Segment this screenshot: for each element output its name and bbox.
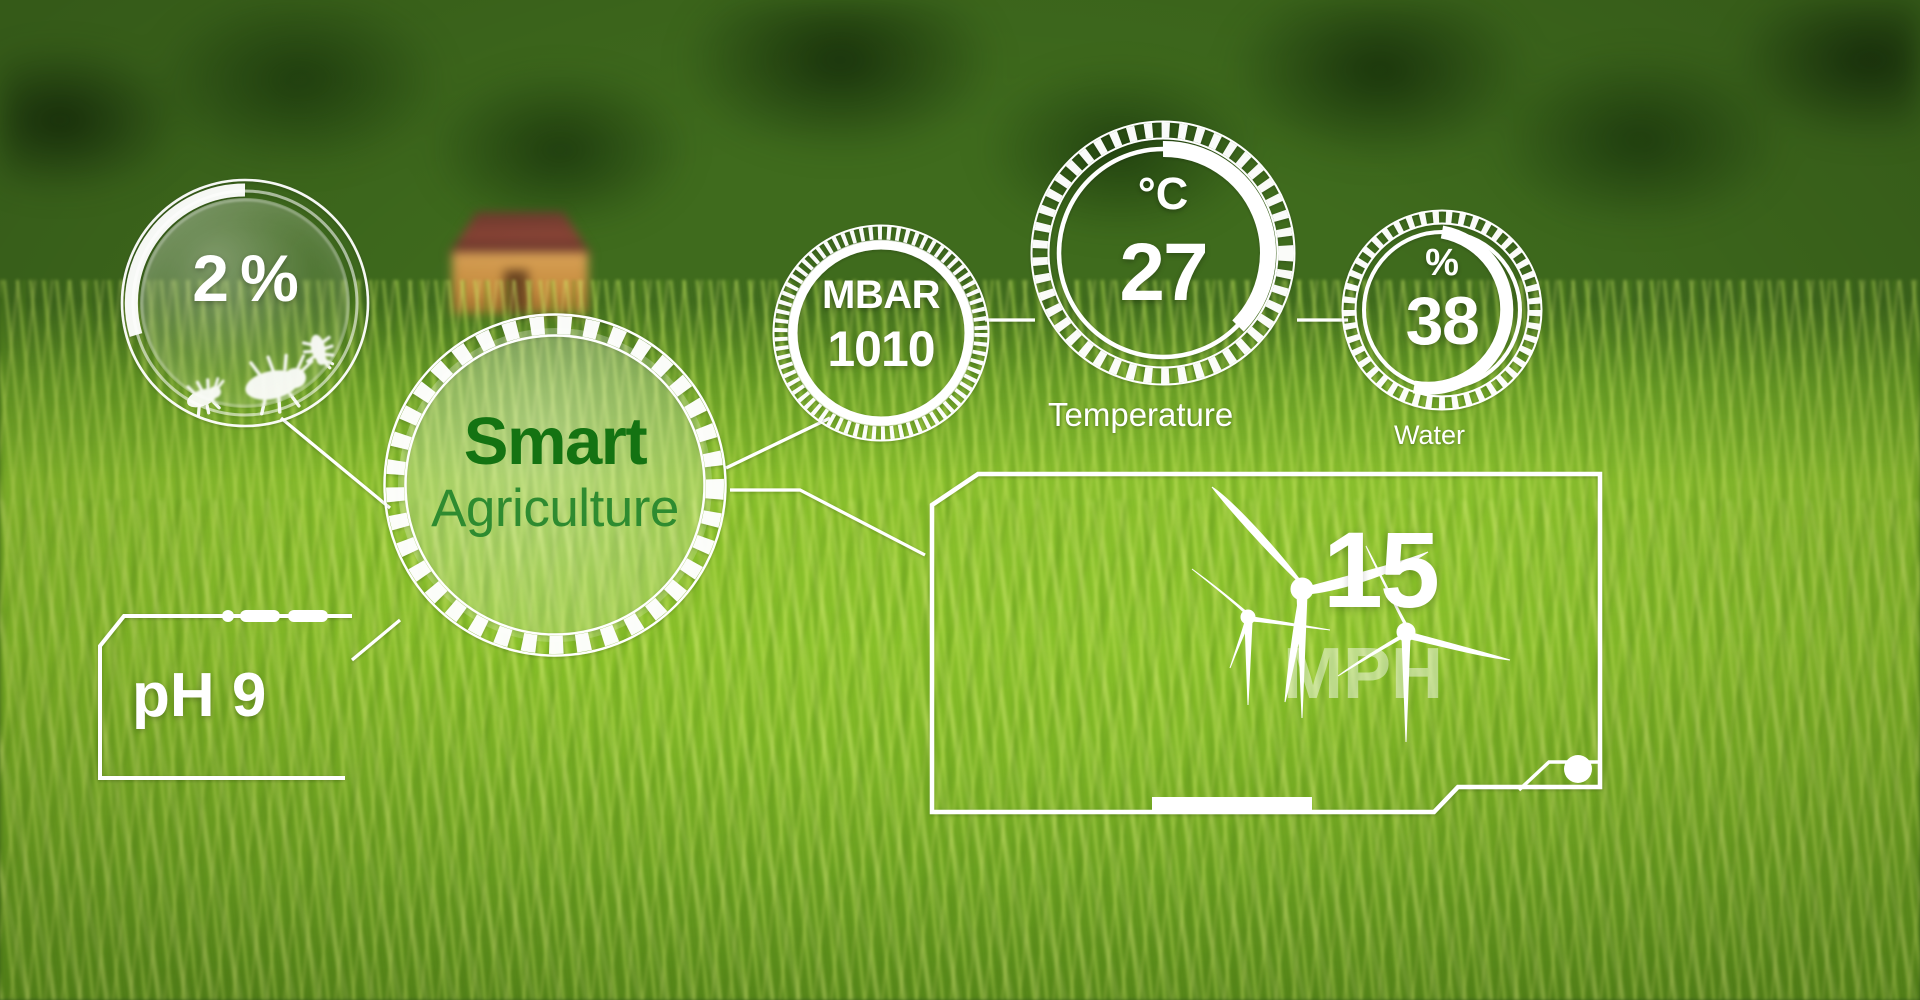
temperature-widget[interactable]: °C 27	[1028, 118, 1298, 388]
wind-speed-value: 15	[1323, 516, 1437, 624]
wind-panel[interactable]: 15 MPH	[925, 470, 1485, 800]
temperature-value: 27	[1028, 226, 1298, 320]
water-unit: %	[1342, 242, 1542, 285]
temperature-label: Temperature	[1048, 396, 1233, 434]
hub-subtitle: Agriculture	[380, 482, 730, 535]
connector-hub-to-wind	[730, 490, 925, 555]
pest-widget[interactable]: 2 %	[120, 178, 370, 428]
water-label: Water	[1394, 420, 1465, 451]
wind-panel-corner-dot	[1564, 755, 1592, 783]
pressure-widget[interactable]: MBAR 1010	[776, 228, 986, 438]
water-widget[interactable]: % 38	[1342, 210, 1542, 410]
pressure-value: 1010	[776, 320, 986, 378]
ph-value: pH 9	[132, 660, 266, 731]
smart-agriculture-hub[interactable]: Smart Agriculture	[380, 310, 730, 660]
connector-pest-to-hub	[281, 418, 390, 508]
ph-panel[interactable]: pH 9	[100, 608, 350, 776]
smart-agriculture-overlay: 2 % MBAR 1010 °C 27 Temperature % 38 Wat…	[0, 0, 1920, 1000]
temperature-unit: °C	[1028, 168, 1298, 220]
hub-title: Smart	[380, 408, 730, 475]
pest-value: 2 %	[120, 240, 370, 316]
wind-speed-unit: MPH	[1283, 638, 1443, 710]
hud-overlay: 2 % MBAR 1010 °C 27 Temperature % 38 Wat…	[0, 0, 1920, 1000]
pressure-unit: MBAR	[776, 273, 986, 318]
water-value: 38	[1342, 282, 1542, 360]
